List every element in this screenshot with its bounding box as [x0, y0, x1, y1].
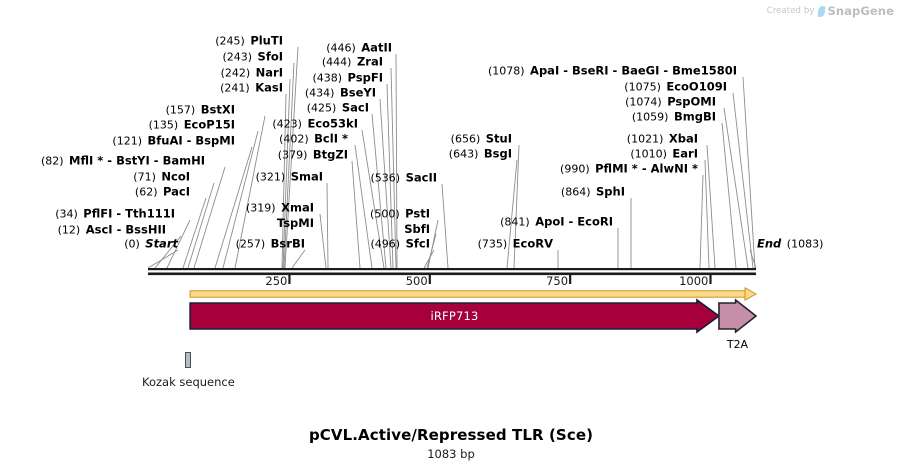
- ruler-line-lower: [148, 273, 756, 276]
- site-position: (434): [305, 87, 340, 100]
- site-name: TspMI: [277, 216, 314, 230]
- site-position: (379): [278, 149, 313, 162]
- restriction-site-pflfitth111i[interactable]: (34) PflFI - Tth111I: [55, 208, 175, 221]
- site-name-separator: -: [659, 64, 672, 78]
- ruler-tick: [288, 275, 290, 284]
- restriction-site-ecop15i[interactable]: (135) EcoP15I: [149, 119, 235, 132]
- site-position: (735): [478, 238, 513, 251]
- restriction-site-apoiecori[interactable]: (841) ApoI - EcoRI: [500, 216, 613, 229]
- site-name: BmgBI: [674, 110, 716, 124]
- site-name-separator: -: [559, 64, 572, 78]
- leader-line: [700, 175, 703, 268]
- leader-line: [724, 108, 748, 268]
- terminal-position: (0): [124, 238, 145, 251]
- orf-arrow: [190, 288, 756, 300]
- restriction-site-eari[interactable]: (1010) EarI: [630, 148, 698, 161]
- leader-line: [396, 54, 397, 268]
- site-name: XbaI: [669, 132, 698, 146]
- site-name: PacI: [163, 185, 190, 199]
- leader-line: [292, 250, 305, 268]
- site-name: Tth111I: [125, 207, 175, 221]
- feature-arrow-t2a: [719, 300, 756, 332]
- restriction-site-ecorv[interactable]: (735) EcoRV: [478, 238, 553, 251]
- site-name: SacI: [342, 101, 369, 115]
- site-name: BstYI: [116, 154, 150, 168]
- restriction-site-bsrbi[interactable]: (257) BsrBI: [236, 238, 305, 251]
- ruler-tick-label-1000: 1000: [679, 274, 708, 288]
- site-name: SphI: [596, 185, 625, 199]
- site-position: (82): [41, 155, 69, 168]
- ruler-tick-label-750: 750: [546, 274, 568, 288]
- site-position: (157): [166, 104, 201, 117]
- site-name: AscI: [86, 223, 113, 237]
- leader-line: [188, 183, 214, 268]
- feature-label-t2a: T2A: [727, 338, 748, 351]
- site-name: AlwNI *: [651, 162, 698, 176]
- ruler-line-upper: [148, 268, 756, 270]
- terminal-marker-end: End (1083): [757, 238, 823, 251]
- leader-line: [442, 184, 448, 268]
- restriction-site-mflibstyibamhi[interactable]: (82) MflI * - BstYI - BamHI: [41, 155, 205, 168]
- restriction-site-aatii[interactable]: (446) AatII: [326, 42, 392, 55]
- leader-line: [743, 77, 755, 268]
- site-name: PstI: [405, 207, 430, 221]
- site-position: (446): [326, 42, 361, 55]
- restriction-site-bstxi[interactable]: (157) BstXI: [166, 104, 235, 117]
- site-name: AatII: [361, 41, 392, 55]
- site-position: (496): [371, 238, 406, 251]
- site-name-separator: -: [150, 154, 163, 168]
- site-position: (121): [112, 135, 147, 148]
- restriction-site-xmai[interactable]: (319) XmaI: [246, 202, 314, 215]
- site-position: (71): [133, 171, 161, 184]
- site-name: ApoI: [535, 215, 564, 229]
- leader-line: [320, 214, 326, 268]
- ruler-tick: [569, 275, 571, 284]
- plasmid-map-canvas: Created by SnapGene (245) PluTI(243) Sfo…: [0, 0, 902, 466]
- ruler-tick: [709, 275, 711, 284]
- site-position: (243): [222, 51, 257, 64]
- restriction-site-bfuaibspmi[interactable]: (121) BfuAI - BspMI: [112, 135, 235, 148]
- restriction-site-ncoi[interactable]: (71) NcoI: [133, 171, 190, 184]
- site-name-separator: -: [113, 223, 126, 237]
- site-name: BseYI: [340, 86, 376, 100]
- site-position: (864): [561, 186, 596, 199]
- restriction-site-sphi[interactable]: (864) SphI: [561, 186, 625, 199]
- site-name: BclI *: [314, 132, 348, 146]
- site-name: BaeGI: [621, 64, 659, 78]
- site-name: Eco53kI: [307, 117, 358, 131]
- site-name: BsgI: [484, 147, 512, 161]
- site-position: (425): [307, 102, 342, 115]
- restriction-site-kasi[interactable]: (241) KasI: [220, 82, 283, 95]
- restriction-site-btgzi[interactable]: (379) BtgZI: [278, 149, 348, 162]
- leader-line: [183, 198, 206, 268]
- site-name: PflFI: [83, 207, 112, 221]
- site-position: (1059): [632, 111, 674, 124]
- restriction-site-pluti[interactable]: (245) PluTI: [215, 35, 283, 48]
- ruler-ticks: [288, 275, 711, 284]
- restriction-site-tspmi[interactable]: TspMI: [277, 217, 314, 229]
- restriction-site-ascibsshii[interactable]: (12) AscI - BssHII: [58, 224, 166, 237]
- site-name: BtgZI: [313, 148, 348, 162]
- restriction-site-smai[interactable]: (321) SmaI: [256, 171, 323, 184]
- site-position: (1078): [488, 65, 530, 78]
- site-position: (241): [220, 82, 255, 95]
- terminal-position: (1083): [781, 238, 823, 251]
- site-position: (500): [370, 208, 405, 221]
- leader-line: [194, 167, 225, 268]
- site-name: PspFI: [348, 71, 383, 85]
- restriction-site-sbfi[interactable]: SbfI: [404, 223, 430, 235]
- site-position: (656): [451, 133, 486, 146]
- restriction-site-sacii[interactable]: (536) SacII: [370, 172, 437, 185]
- site-name-separator: -: [609, 64, 622, 78]
- restriction-site-bcli[interactable]: (402) BclI *: [279, 133, 348, 146]
- restriction-site-pspomi[interactable]: (1074) PspOMI: [625, 96, 716, 109]
- kozak-sequence-marker: [185, 352, 191, 368]
- terminal-label: End: [757, 237, 781, 251]
- site-name: Bme1580I: [672, 64, 737, 78]
- restriction-site-zrai[interactable]: (444) ZraI: [322, 56, 383, 69]
- restriction-site-pflmialwni[interactable]: (990) PflMI * - AlwNI *: [560, 163, 698, 176]
- site-name: BspMI: [195, 134, 235, 148]
- site-position: (245): [215, 35, 250, 48]
- site-name: StuI: [486, 132, 512, 146]
- restriction-site-apaibseribaegibme1580i[interactable]: (1078) ApaI - BseRI - BaeGI - Bme1580I: [488, 65, 737, 78]
- restriction-site-paci[interactable]: (62) PacI: [135, 186, 190, 199]
- ruler-tick-label-500: 500: [406, 274, 428, 288]
- restriction-site-xbai[interactable]: (1021) XbaI: [627, 133, 698, 146]
- site-name-separator: -: [638, 162, 651, 176]
- site-position: (319): [246, 202, 281, 215]
- site-position: (1021): [627, 133, 669, 146]
- leader-line: [722, 123, 736, 268]
- sequence-ruler: [148, 268, 756, 275]
- site-name: BamHI: [163, 154, 205, 168]
- site-position: (135): [149, 119, 184, 132]
- site-name: EarI: [672, 147, 698, 161]
- site-position: (242): [221, 67, 256, 80]
- site-name: SfcI: [406, 237, 430, 251]
- leader-line: [355, 145, 372, 268]
- site-position: (12): [58, 224, 86, 237]
- site-name-separator: -: [112, 207, 125, 221]
- site-position: (643): [449, 148, 484, 161]
- ruler-tick: [429, 275, 431, 284]
- leader-line: [352, 161, 360, 268]
- site-name: SfoI: [258, 50, 283, 64]
- leader-line: [733, 93, 753, 268]
- kozak-sequence-label: Kozak sequence: [142, 375, 235, 389]
- site-position: (536): [370, 172, 405, 185]
- site-name: BseRI: [572, 64, 609, 78]
- site-position: (1075): [624, 81, 666, 94]
- site-name: PluTI: [250, 34, 283, 48]
- site-name: BstXI: [201, 103, 235, 117]
- site-name: SmaI: [291, 170, 323, 184]
- site-name-separator: -: [565, 215, 578, 229]
- site-name: ZraI: [357, 55, 383, 69]
- site-name: KasI: [255, 81, 283, 95]
- orf-arrow-body: [190, 291, 747, 297]
- restriction-site-sfoi[interactable]: (243) SfoI: [222, 51, 283, 64]
- restriction-site-ecoo109i[interactable]: (1075) EcoO109I: [624, 81, 727, 94]
- site-name: EcoO109I: [666, 80, 727, 94]
- terminal-label: Start: [145, 237, 178, 251]
- site-name: SacII: [406, 171, 437, 185]
- restriction-site-stui[interactable]: (656) StuI: [451, 133, 512, 146]
- site-name: EcoP15I: [184, 118, 235, 132]
- feature-label-irfp713: iRFP713: [430, 309, 478, 323]
- site-position: (1010): [630, 148, 672, 161]
- site-position: (257): [236, 238, 271, 251]
- restriction-site-bmgbi[interactable]: (1059) BmgBI: [632, 111, 716, 124]
- site-position: (841): [500, 216, 535, 229]
- site-position: (438): [312, 72, 347, 85]
- site-name-separator: -: [103, 154, 116, 168]
- page-title: pCVL.Active/Repressed TLR (Sce): [0, 426, 902, 444]
- site-name: XmaI: [281, 201, 314, 215]
- site-name: BsrBI: [271, 237, 305, 251]
- terminal-marker-start: (0) Start: [124, 238, 178, 251]
- restriction-site-sfci[interactable]: (496) SfcI: [371, 238, 430, 251]
- site-name: EcoRV: [513, 237, 553, 251]
- site-name: BssHII: [125, 223, 166, 237]
- site-name: SbfI: [404, 222, 430, 236]
- ruler-tick-label-250: 250: [265, 274, 287, 288]
- site-position: (990): [560, 163, 595, 176]
- feature-arrow-t2a-shape: [719, 300, 756, 332]
- site-name: PspOMI: [667, 95, 716, 109]
- restriction-site-saci[interactable]: (425) SacI: [307, 102, 369, 115]
- site-name: BfuAI: [148, 134, 183, 148]
- orf-arrow-head: [745, 288, 756, 300]
- site-name-separator: -: [183, 134, 196, 148]
- leader-line: [507, 160, 517, 268]
- site-position: (34): [55, 208, 83, 221]
- site-name: NarI: [256, 66, 283, 80]
- site-name: ApaI: [530, 64, 559, 78]
- restriction-site-psti[interactable]: (500) PstI: [370, 208, 430, 221]
- restriction-site-eco53ki[interactable]: (423) Eco53kI: [272, 118, 358, 131]
- site-position: (423): [272, 118, 307, 131]
- site-position: (1074): [625, 96, 667, 109]
- restriction-site-bsgi[interactable]: (643) BsgI: [449, 148, 512, 161]
- site-name: NcoI: [161, 170, 190, 184]
- leader-line: [705, 160, 709, 268]
- site-name: EcoRI: [577, 215, 613, 229]
- site-name: PflMI *: [595, 162, 638, 176]
- site-position: (444): [322, 56, 357, 69]
- restriction-site-nari[interactable]: (242) NarI: [221, 67, 283, 80]
- restriction-site-bseyi[interactable]: (434) BseYI: [305, 87, 376, 100]
- site-position: (321): [256, 171, 291, 184]
- site-position: (402): [279, 133, 314, 146]
- page-subtitle-length: 1083 bp: [0, 447, 902, 461]
- leader-line: [327, 183, 328, 268]
- site-position: (62): [135, 186, 163, 199]
- site-name: MflI *: [69, 154, 103, 168]
- leader-line: [148, 250, 178, 268]
- restriction-site-pspfi[interactable]: (438) PspFI: [312, 72, 383, 85]
